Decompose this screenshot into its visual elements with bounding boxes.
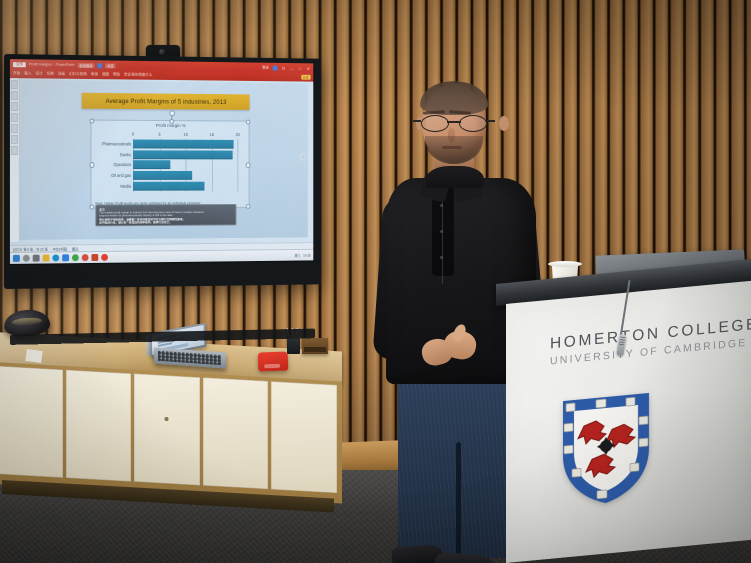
x-axis-tick: 5 (158, 132, 160, 137)
edge-icon[interactable] (52, 254, 59, 261)
tooltip-line: 其中医药行业、银行业一直位居利润率前列，媒体行业次之。 (99, 221, 232, 225)
autosave-chip[interactable]: 自动保存 (77, 63, 94, 68)
lectern: HOMERTON COLLEGE UNIVERSITY OF CAMBRIDGE (498, 296, 751, 563)
x-axis-tick: 20 (236, 132, 240, 137)
taskbar-date: 周三 (295, 253, 301, 258)
paper-tag (25, 349, 43, 363)
right-lens (459, 115, 487, 132)
wooden-box (302, 338, 328, 354)
wps-icon[interactable] (82, 254, 89, 261)
x-axis-tick: 15 (210, 132, 214, 137)
minimize-icon[interactable]: — (289, 65, 294, 70)
glasses-temple-right (487, 120, 495, 122)
slide-thumbnail[interactable] (11, 124, 18, 133)
side-laptop-keys (158, 351, 221, 365)
slide-thumbnail[interactable] (11, 91, 18, 100)
bar-category-label: Oil and gas (111, 173, 131, 178)
explorer-icon[interactable] (43, 255, 50, 262)
slide-thumbnail[interactable] (11, 146, 18, 155)
maximize-icon[interactable]: □ (298, 66, 303, 71)
resize-handle[interactable] (90, 162, 95, 167)
save-icon[interactable] (97, 63, 102, 68)
ribbon-tab[interactable]: 动画 (58, 72, 65, 77)
bar-category-label: Operators (114, 163, 132, 168)
rotate-handle[interactable] (169, 110, 175, 116)
tell-me-box[interactable]: 告诉我你想做什么 (124, 73, 152, 78)
lecture-room-photo: 文件 Profit margins - PowerPoint 自动保存 共享 登… (0, 0, 751, 563)
chart-bar-row: Media (133, 181, 243, 192)
chart-x-axis: 05101520 (133, 132, 243, 138)
bar-chart[interactable]: Profit margin % 05101520 Pharmaceuticals… (90, 120, 249, 209)
account-chip[interactable]: 登录 (262, 65, 269, 70)
account-avatar[interactable] (273, 65, 278, 70)
slide-title-text: Average Profit Margins of 5 industries, … (106, 97, 227, 105)
ribbon-tab[interactable]: 设计 (35, 71, 42, 76)
chart-bar-row: Oil and gas (133, 170, 243, 181)
chart-plot-area: PharmaceuticalsBanksOperatorsOil and gas… (133, 139, 243, 192)
x-axis-tick: 10 (184, 132, 188, 137)
chart-bar-row: Pharmaceuticals (133, 139, 243, 150)
chart-bar[interactable] (133, 161, 170, 170)
right-ear (499, 116, 509, 131)
ribbon-tab[interactable]: 幻灯片放映 (69, 72, 87, 77)
chart-header: Profit margin % (91, 123, 248, 129)
cabinet-door[interactable] (0, 366, 63, 478)
notes-tooltip: 备注 The median profit margin in industry … (95, 204, 236, 226)
ribbon-tab[interactable]: 开始 (13, 71, 20, 76)
powerpoint-icon[interactable] (91, 254, 98, 261)
turtleneck (426, 166, 484, 188)
chart-bar[interactable] (133, 150, 233, 159)
ribbon-action-chip[interactable]: 分享 (301, 75, 311, 80)
chart-bar[interactable] (133, 171, 192, 180)
cabinet-door[interactable] (203, 378, 269, 490)
start-icon[interactable] (13, 255, 20, 262)
slide-title-banner[interactable]: Average Profit Margins of 5 industries, … (82, 93, 250, 110)
ribbon-tab[interactable]: 视图 (102, 72, 109, 77)
chart-bar-row: Banks (133, 149, 243, 160)
display-screen[interactable]: 文件 Profit margins - PowerPoint 自动保存 共享 登… (10, 59, 313, 264)
coat-of-arms-icon (560, 390, 652, 511)
left-lens (421, 115, 449, 132)
slide-thumbnail[interactable] (11, 102, 18, 111)
restore-icon[interactable]: ⊡ (281, 65, 286, 70)
ribbon-tab[interactable]: 审阅 (91, 72, 98, 77)
glasses-temple-left (413, 120, 421, 122)
resize-handle[interactable] (245, 163, 250, 168)
taskbar-clock: 14:26 (303, 253, 310, 257)
mail-icon[interactable] (62, 254, 69, 261)
slide-thumbnail[interactable] (11, 113, 18, 122)
chart-bar[interactable] (133, 139, 234, 148)
resize-handle[interactable] (90, 204, 95, 209)
cabinet-door[interactable] (66, 370, 132, 482)
cabinet-door[interactable] (134, 374, 200, 486)
cup-rim (548, 261, 582, 267)
leg-separation (456, 442, 461, 560)
ribbon-tab[interactable]: 插入 (24, 71, 31, 76)
chart-bar-row: Operators (133, 160, 243, 171)
chevron-left-icon[interactable]: ‹ (300, 153, 306, 162)
x-axis-tick: 0 (132, 132, 134, 137)
slide-thumbnail[interactable] (11, 135, 18, 144)
bar-category-label: Pharmaceuticals (102, 141, 131, 146)
slide-canvas[interactable]: Average Profit Margins of 5 industries, … (20, 80, 308, 240)
wall-display[interactable]: 文件 Profit margins - PowerPoint 自动保存 共享 登… (4, 54, 321, 289)
slide-thumbnail[interactable] (11, 80, 18, 89)
ribbon-tab[interactable]: 帮助 (113, 72, 120, 77)
resize-handle[interactable] (245, 204, 250, 209)
chrome-icon[interactable] (72, 254, 79, 261)
tooltip-heading: 备注 (99, 207, 232, 212)
file-tab[interactable]: 文件 (13, 62, 26, 67)
recording-icon[interactable] (101, 254, 108, 261)
pen-holder (287, 338, 300, 354)
cabinet-door[interactable] (271, 381, 337, 493)
language-indicator[interactable]: 中文(中国) (53, 246, 68, 251)
slide-thumbnail-rail[interactable] (10, 78, 20, 242)
window-title: Profit margins - PowerPoint (29, 62, 75, 67)
mouth (442, 146, 462, 149)
red-pouch (258, 351, 289, 371)
credenza-doors (0, 366, 337, 493)
glasses-bridge (447, 121, 461, 123)
close-icon[interactable]: ✕ (306, 66, 311, 71)
bar-category-label: Media (120, 184, 131, 189)
notes-button[interactable]: 备注 (72, 246, 78, 251)
ribbon-tab[interactable]: 切换 (47, 72, 54, 77)
bar-category-label: Banks (120, 152, 131, 157)
task-view-icon[interactable] (33, 255, 40, 262)
chart-bar[interactable] (133, 182, 204, 191)
share-chip[interactable]: 共享 (105, 63, 115, 68)
search-icon[interactable] (23, 255, 30, 262)
